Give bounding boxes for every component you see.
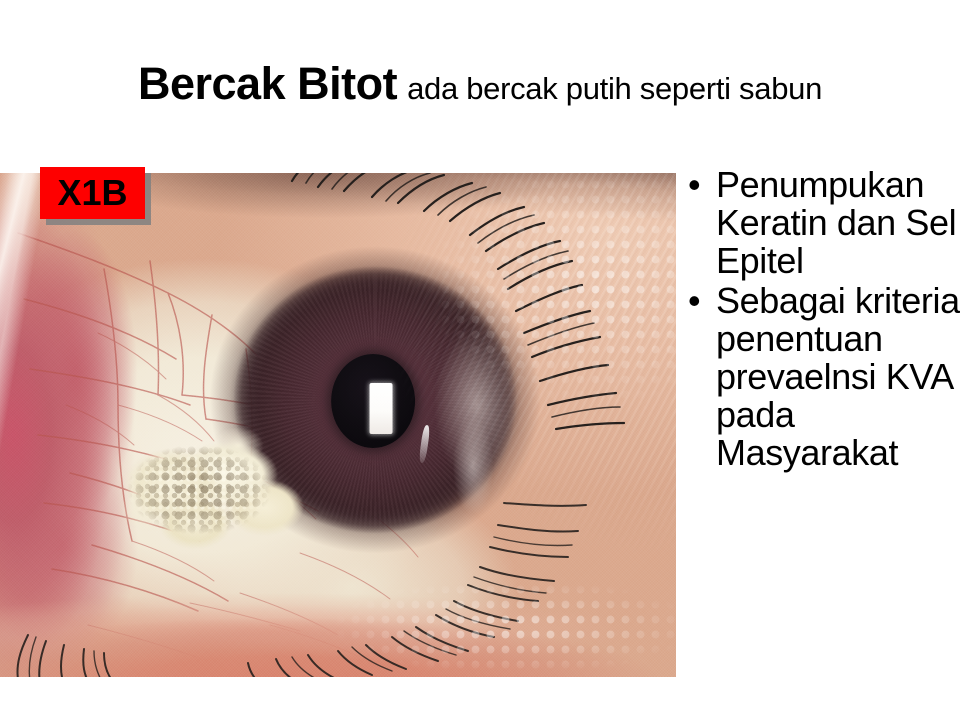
bullet-marker-icon: • xyxy=(684,282,716,320)
bullet-text: Penumpukan Keratin dan Sel Epitel xyxy=(716,166,960,280)
bullet-marker-icon: • xyxy=(684,166,716,204)
title-main-text: Bercak Bitot xyxy=(138,58,397,109)
status-badge: X1B xyxy=(40,167,145,219)
list-item: • Penumpukan Keratin dan Sel Epitel xyxy=(684,166,960,280)
eye-photograph xyxy=(0,173,676,677)
title-subtitle-text: ada bercak putih seperti sabun xyxy=(407,71,822,106)
status-badge-label: X1B xyxy=(57,175,127,211)
slide-canvas: Bercak Bitotada bercak putih seperti sab… xyxy=(0,0,960,720)
page-title: Bercak Bitotada bercak putih seperti sab… xyxy=(0,58,960,118)
bullet-list: • Penumpukan Keratin dan Sel Epitel • Se… xyxy=(684,166,960,474)
bullet-text: Sebagai kriteria penentuan prevaelnsi KV… xyxy=(716,282,960,472)
list-item: • Sebagai kriteria penentuan prevaelnsi … xyxy=(684,282,960,472)
photo-grain-overlay xyxy=(0,173,676,677)
